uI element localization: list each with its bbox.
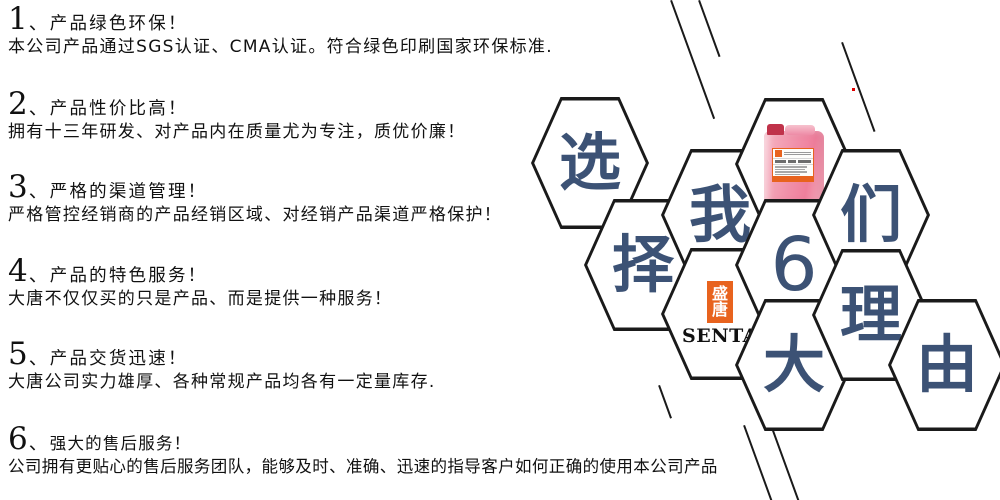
label-top-row xyxy=(773,149,813,158)
senta-badge: 盛 唐 xyxy=(707,281,733,323)
honeycomb-graphic: 选 择 我 盛 唐 xyxy=(0,0,1000,500)
hex-glyph-xuan: 选 xyxy=(559,132,621,194)
can-handle xyxy=(785,125,815,135)
can-label xyxy=(772,148,814,182)
badge-char-tang: 唐 xyxy=(712,302,728,318)
hex-glyph-men: 们 xyxy=(840,184,902,246)
label-mid-row xyxy=(773,158,813,165)
hex-glyph-six: 6 xyxy=(770,228,817,302)
can-cap xyxy=(767,124,784,135)
hex-glyph-you: 由 xyxy=(916,334,978,396)
label-brand-mark xyxy=(775,150,782,157)
hex-cell-you: 由 xyxy=(888,297,1000,433)
promo-canvas: 1 、 产品绿色环保！ 本公司产品通过SGS认证、CMA认证。符合绿色印刷国家环… xyxy=(0,0,1000,500)
label-title-lines xyxy=(784,152,811,155)
label-footer-bar xyxy=(773,176,813,181)
